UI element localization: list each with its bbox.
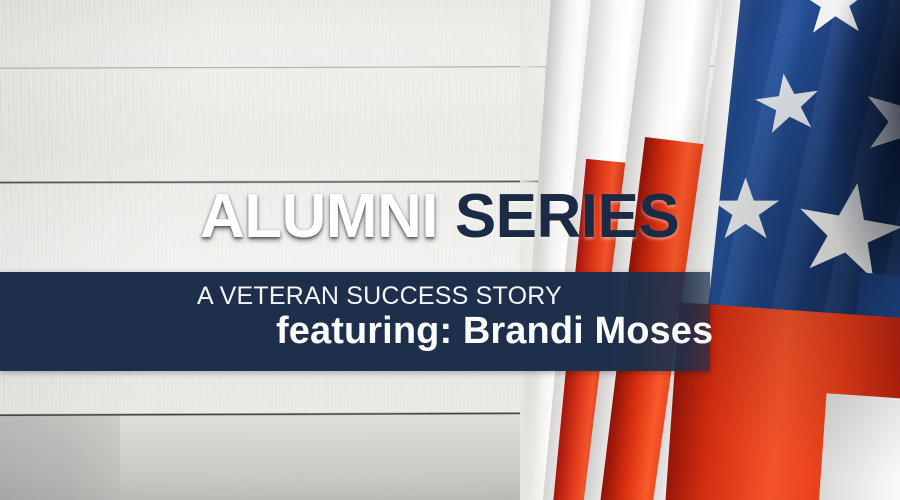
page-title: ALUMNI SERIES: [200, 186, 679, 248]
banner-subtitle: A VETERAN SUCCESS STORY: [197, 282, 562, 311]
alumni-series-poster: ALUMNI SERIES A VETERAN SUCCESS STORY fe…: [0, 0, 900, 500]
headline-word-series: SERIES: [455, 182, 679, 251]
banner-featuring: featuring: Brandi Moses: [276, 310, 713, 353]
headline-word-alumni: ALUMNI: [200, 182, 438, 251]
subtitle-banner: A VETERAN SUCCESS STORY featuring: Brand…: [0, 272, 710, 371]
